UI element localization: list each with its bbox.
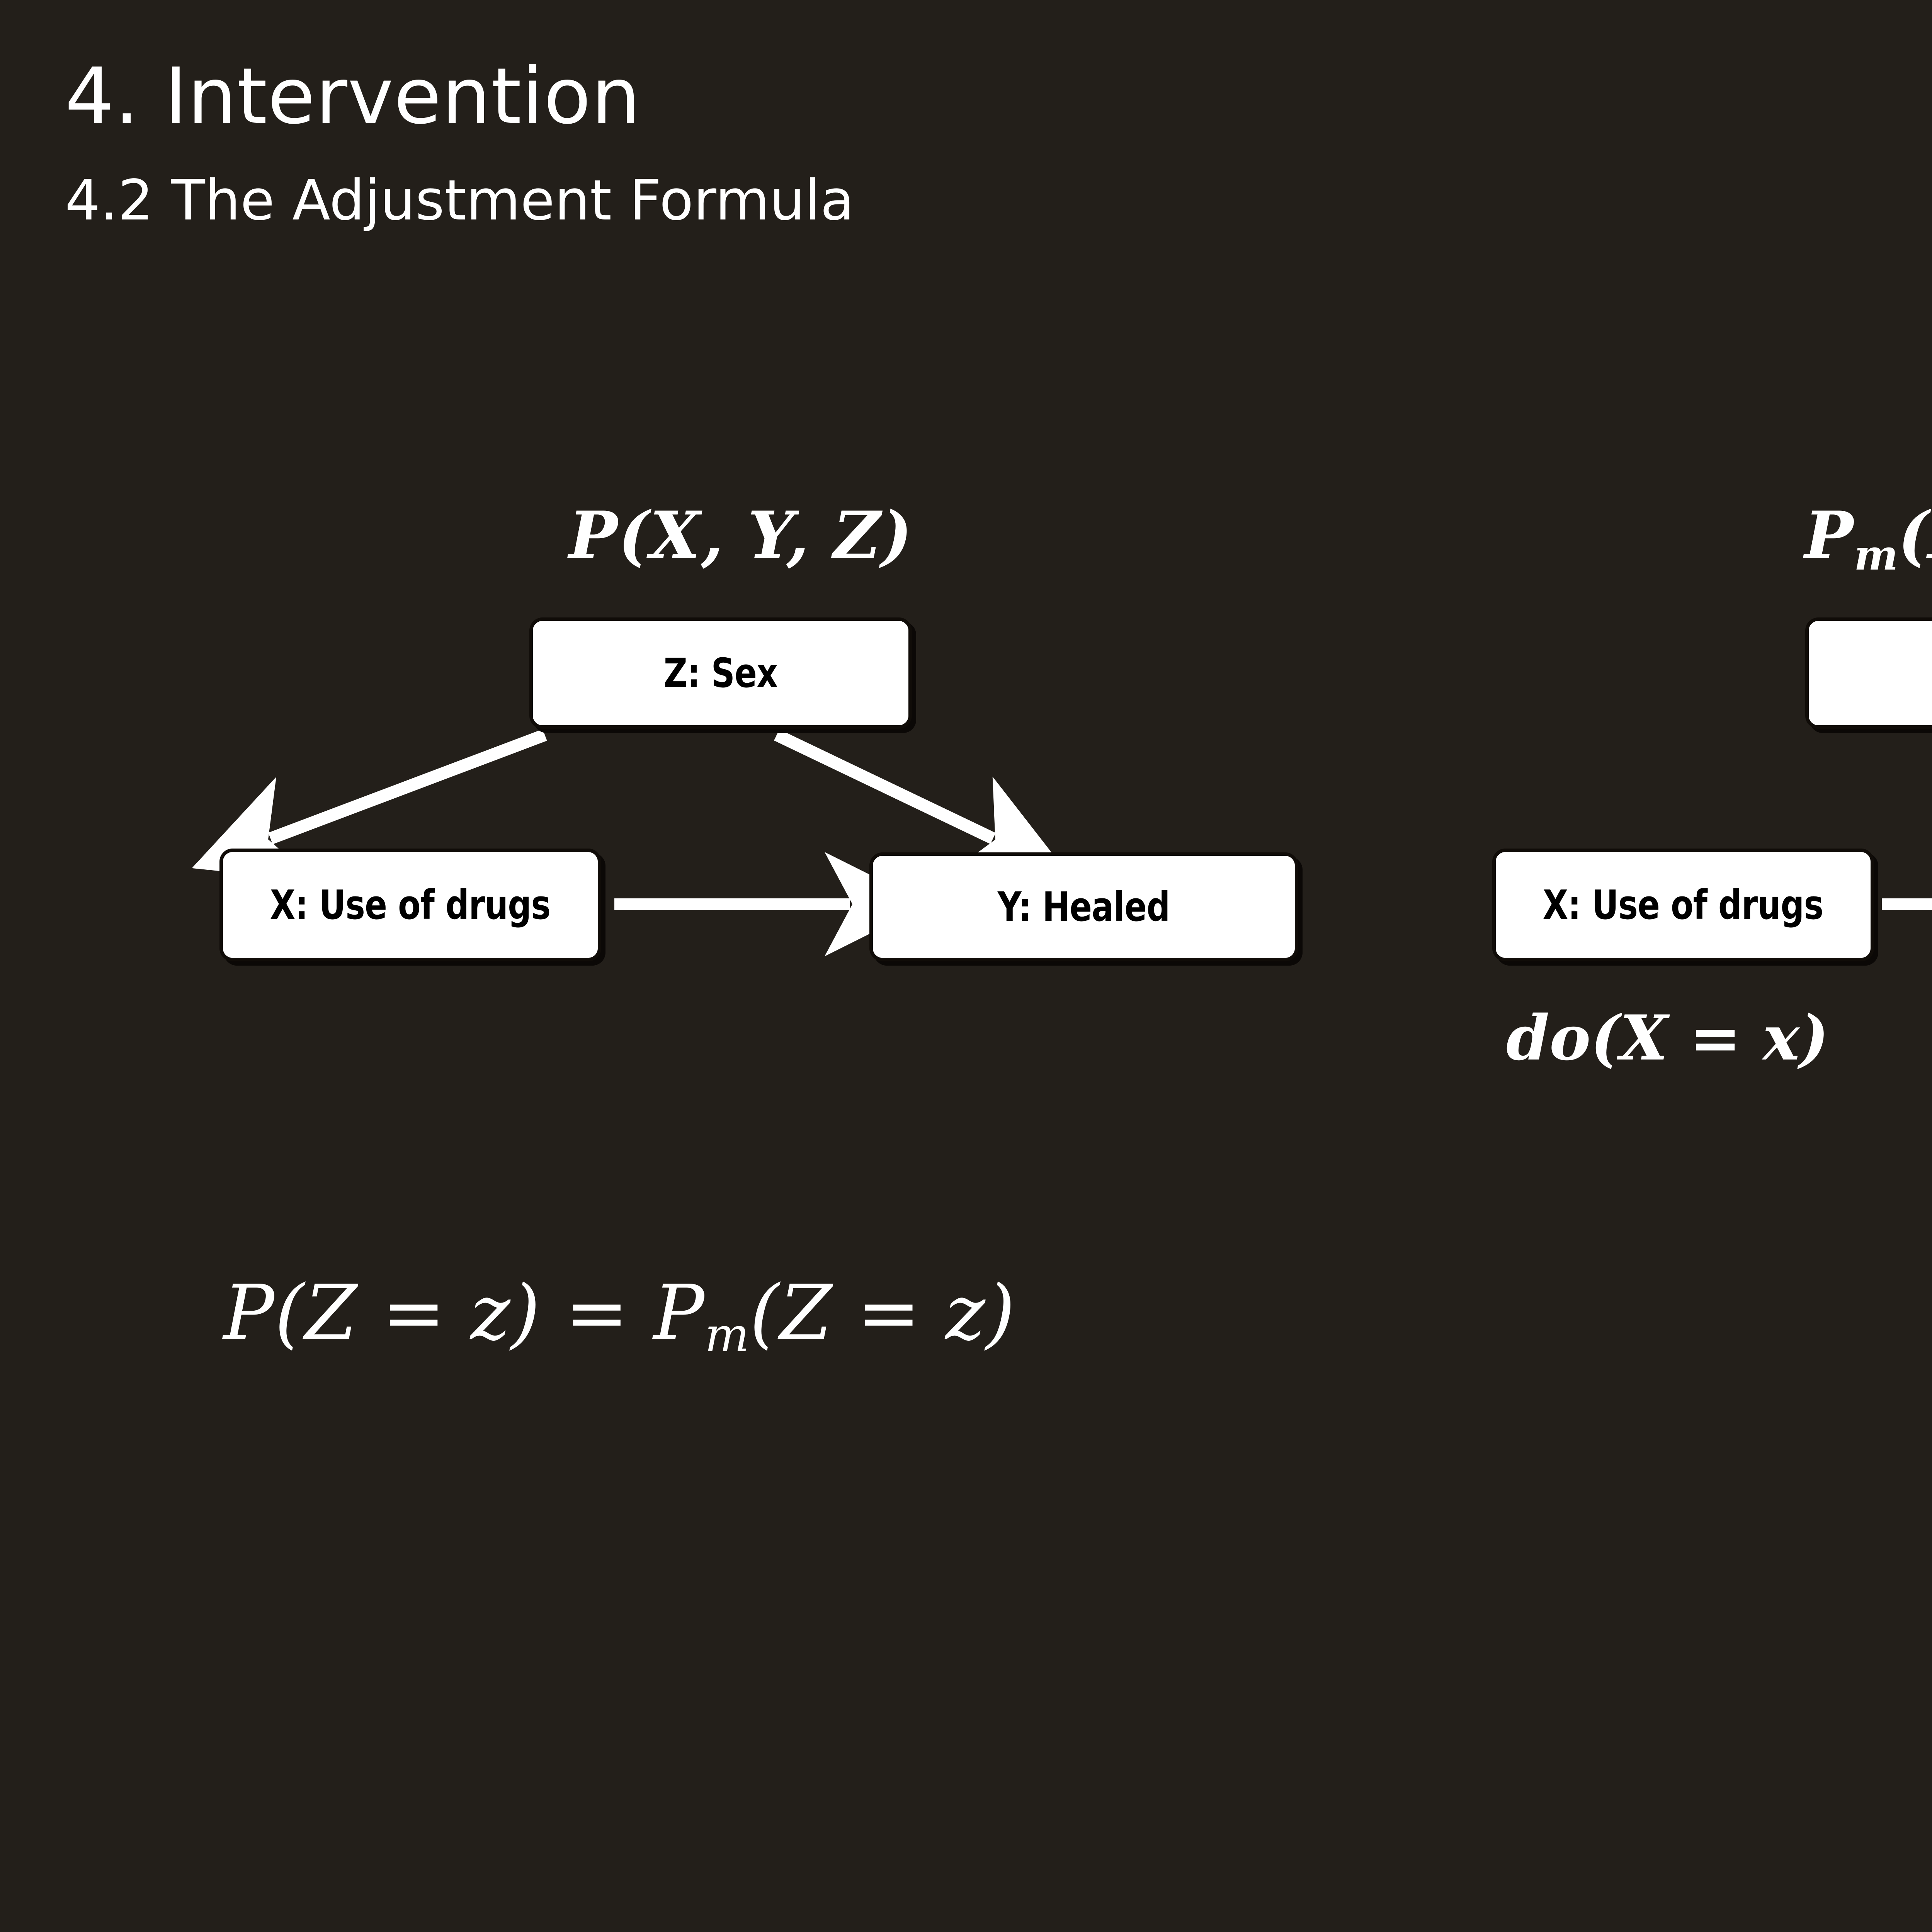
node-label: Z: Sex (664, 650, 778, 697)
node-z-sex-observational[interactable]: Z: Sex (529, 617, 912, 729)
adjustment-equation: P(Z = z) = Pm(Z = z) (223, 1269, 1015, 1362)
page-subtitle: 4.2 The Adjustment Formula (65, 172, 1932, 228)
node-label: Y: Healed (998, 883, 1170, 930)
slide-header: 4. Intervention 4.2 The Adjustment Formu… (65, 58, 1932, 228)
page-title: 4. Intervention (65, 58, 1932, 135)
equation-lhs-body: (Z = z) (275, 1269, 541, 1357)
node-label: X: Use of drugs (270, 881, 551, 929)
node-x-use-of-drugs-observational[interactable]: X: Use of drugs (219, 849, 601, 961)
node-z-sex-interventional[interactable]: Z: Sex (1805, 617, 1932, 729)
equation-rhs-subscript: m (705, 1308, 750, 1362)
equation-rhs-prefix: P (653, 1269, 705, 1357)
node-y-healed-observational[interactable]: Y: Healed (869, 852, 1298, 961)
presentation-slide: 4. Intervention 4.2 The Adjustment Formu… (0, 0, 1932, 1932)
do-operator-body: (X = x) (1591, 1002, 1829, 1074)
node-x-use-of-drugs-interventional[interactable]: X: Use of drugs (1492, 849, 1874, 961)
node-label: X: Use of drugs (1543, 881, 1823, 929)
do-operator-annotation: do(X = x) (1506, 1002, 1829, 1074)
do-operator-prefix: do (1506, 1002, 1591, 1074)
equation-lhs-prefix: P (223, 1269, 275, 1357)
equation-relation: = (541, 1269, 653, 1357)
equation-rhs-body: (Z = z) (750, 1269, 1015, 1357)
